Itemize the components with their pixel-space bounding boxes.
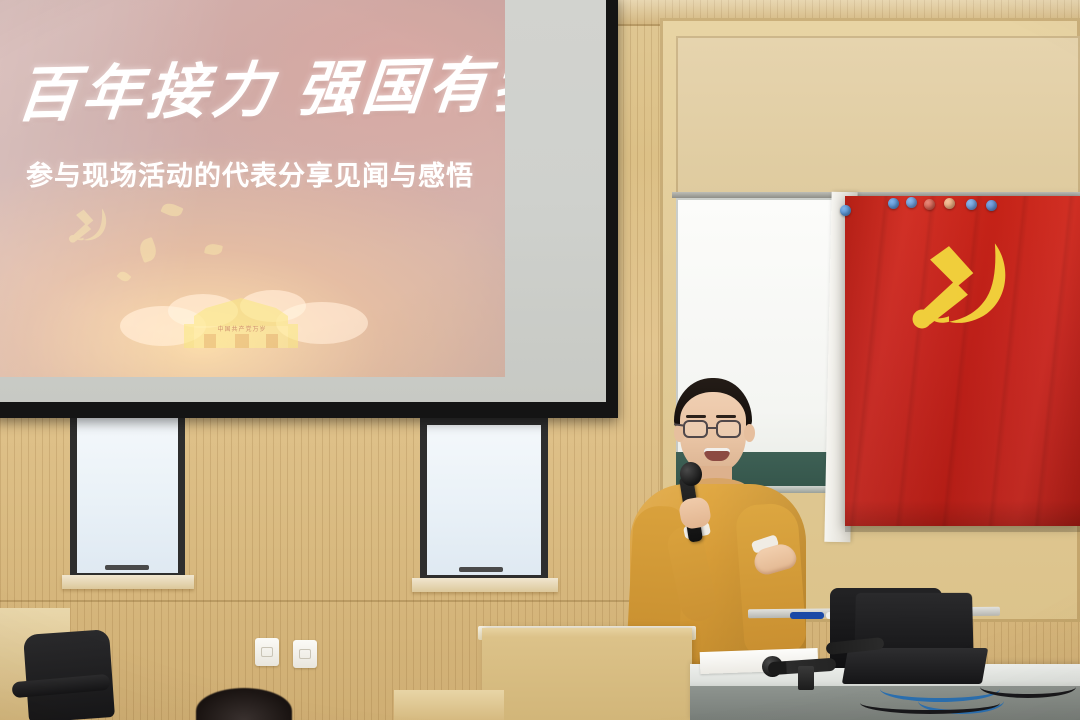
ribbon-shape bbox=[117, 269, 132, 284]
eyeglasses-bridge bbox=[708, 427, 716, 429]
window-sill-left bbox=[62, 575, 194, 589]
power-cable bbox=[860, 692, 1000, 714]
window-sill-right bbox=[412, 578, 558, 592]
magnet-5[interactable] bbox=[944, 198, 955, 209]
magnet-3[interactable] bbox=[906, 197, 917, 208]
window-right bbox=[420, 418, 548, 582]
hammer-and-sickle-icon bbox=[62, 200, 116, 256]
outlet-socket bbox=[261, 647, 273, 657]
tiananmen-gate-icon bbox=[176, 290, 306, 352]
ribbon-shape bbox=[204, 242, 223, 256]
magnet-6[interactable] bbox=[966, 199, 977, 210]
eyeglasses-right-lens bbox=[716, 420, 741, 438]
magnet-4[interactable] bbox=[924, 199, 935, 210]
window-left bbox=[70, 410, 185, 580]
side-cabinet bbox=[394, 690, 504, 720]
window-handle[interactable] bbox=[459, 567, 503, 572]
window-glass bbox=[427, 425, 541, 575]
magnet-1[interactable] bbox=[840, 205, 851, 216]
gate-caption: 中国共产党万岁 bbox=[196, 324, 288, 333]
projection-screen-surface: 中国共产党万岁 百年接力 强国有我 参与现场活动的代表分享见闻与感悟 bbox=[0, 0, 606, 402]
projection-screen-frame: 中国共产党万岁 百年接力 强国有我 参与现场活动的代表分享见闻与感悟 bbox=[0, 0, 618, 418]
window-handle[interactable] bbox=[105, 565, 149, 570]
marker-blue[interactable] bbox=[790, 612, 824, 619]
power-cable bbox=[980, 676, 1076, 698]
magnet-7[interactable] bbox=[986, 200, 997, 211]
speaker-ear-right bbox=[744, 424, 755, 442]
hammer-and-sickle-icon bbox=[895, 222, 1030, 362]
slide-subtitle: 参与现场活动的代表分享见闻与感悟 bbox=[10, 154, 490, 193]
eyeglasses-left-lens bbox=[683, 420, 708, 438]
ribbon-shape bbox=[160, 200, 183, 219]
lecture-hall-photo: 中国共产党万岁 百年接力 强国有我 参与现场活动的代表分享见闻与感悟 bbox=[0, 0, 1080, 720]
magnet-2[interactable] bbox=[888, 198, 899, 209]
window-glass bbox=[77, 417, 178, 573]
battery-pack[interactable] bbox=[798, 666, 814, 690]
board-upper-panel bbox=[676, 36, 1080, 194]
projected-slide: 中国共产党万岁 百年接力 强国有我 参与现场活动的代表分享见闻与感悟 bbox=[0, 0, 505, 377]
slide-title: 百年接力 强国有我 bbox=[13, 37, 491, 134]
outlet-socket bbox=[299, 649, 311, 659]
speaker-brow-right bbox=[716, 415, 736, 418]
ribbon-shape bbox=[137, 237, 160, 263]
speaker-arm-right bbox=[735, 502, 807, 656]
wall-outlet-left[interactable] bbox=[255, 638, 279, 666]
wooden-podium bbox=[482, 628, 692, 720]
wall-outlet-right[interactable] bbox=[293, 640, 317, 668]
speaker-brow-left bbox=[686, 415, 706, 418]
